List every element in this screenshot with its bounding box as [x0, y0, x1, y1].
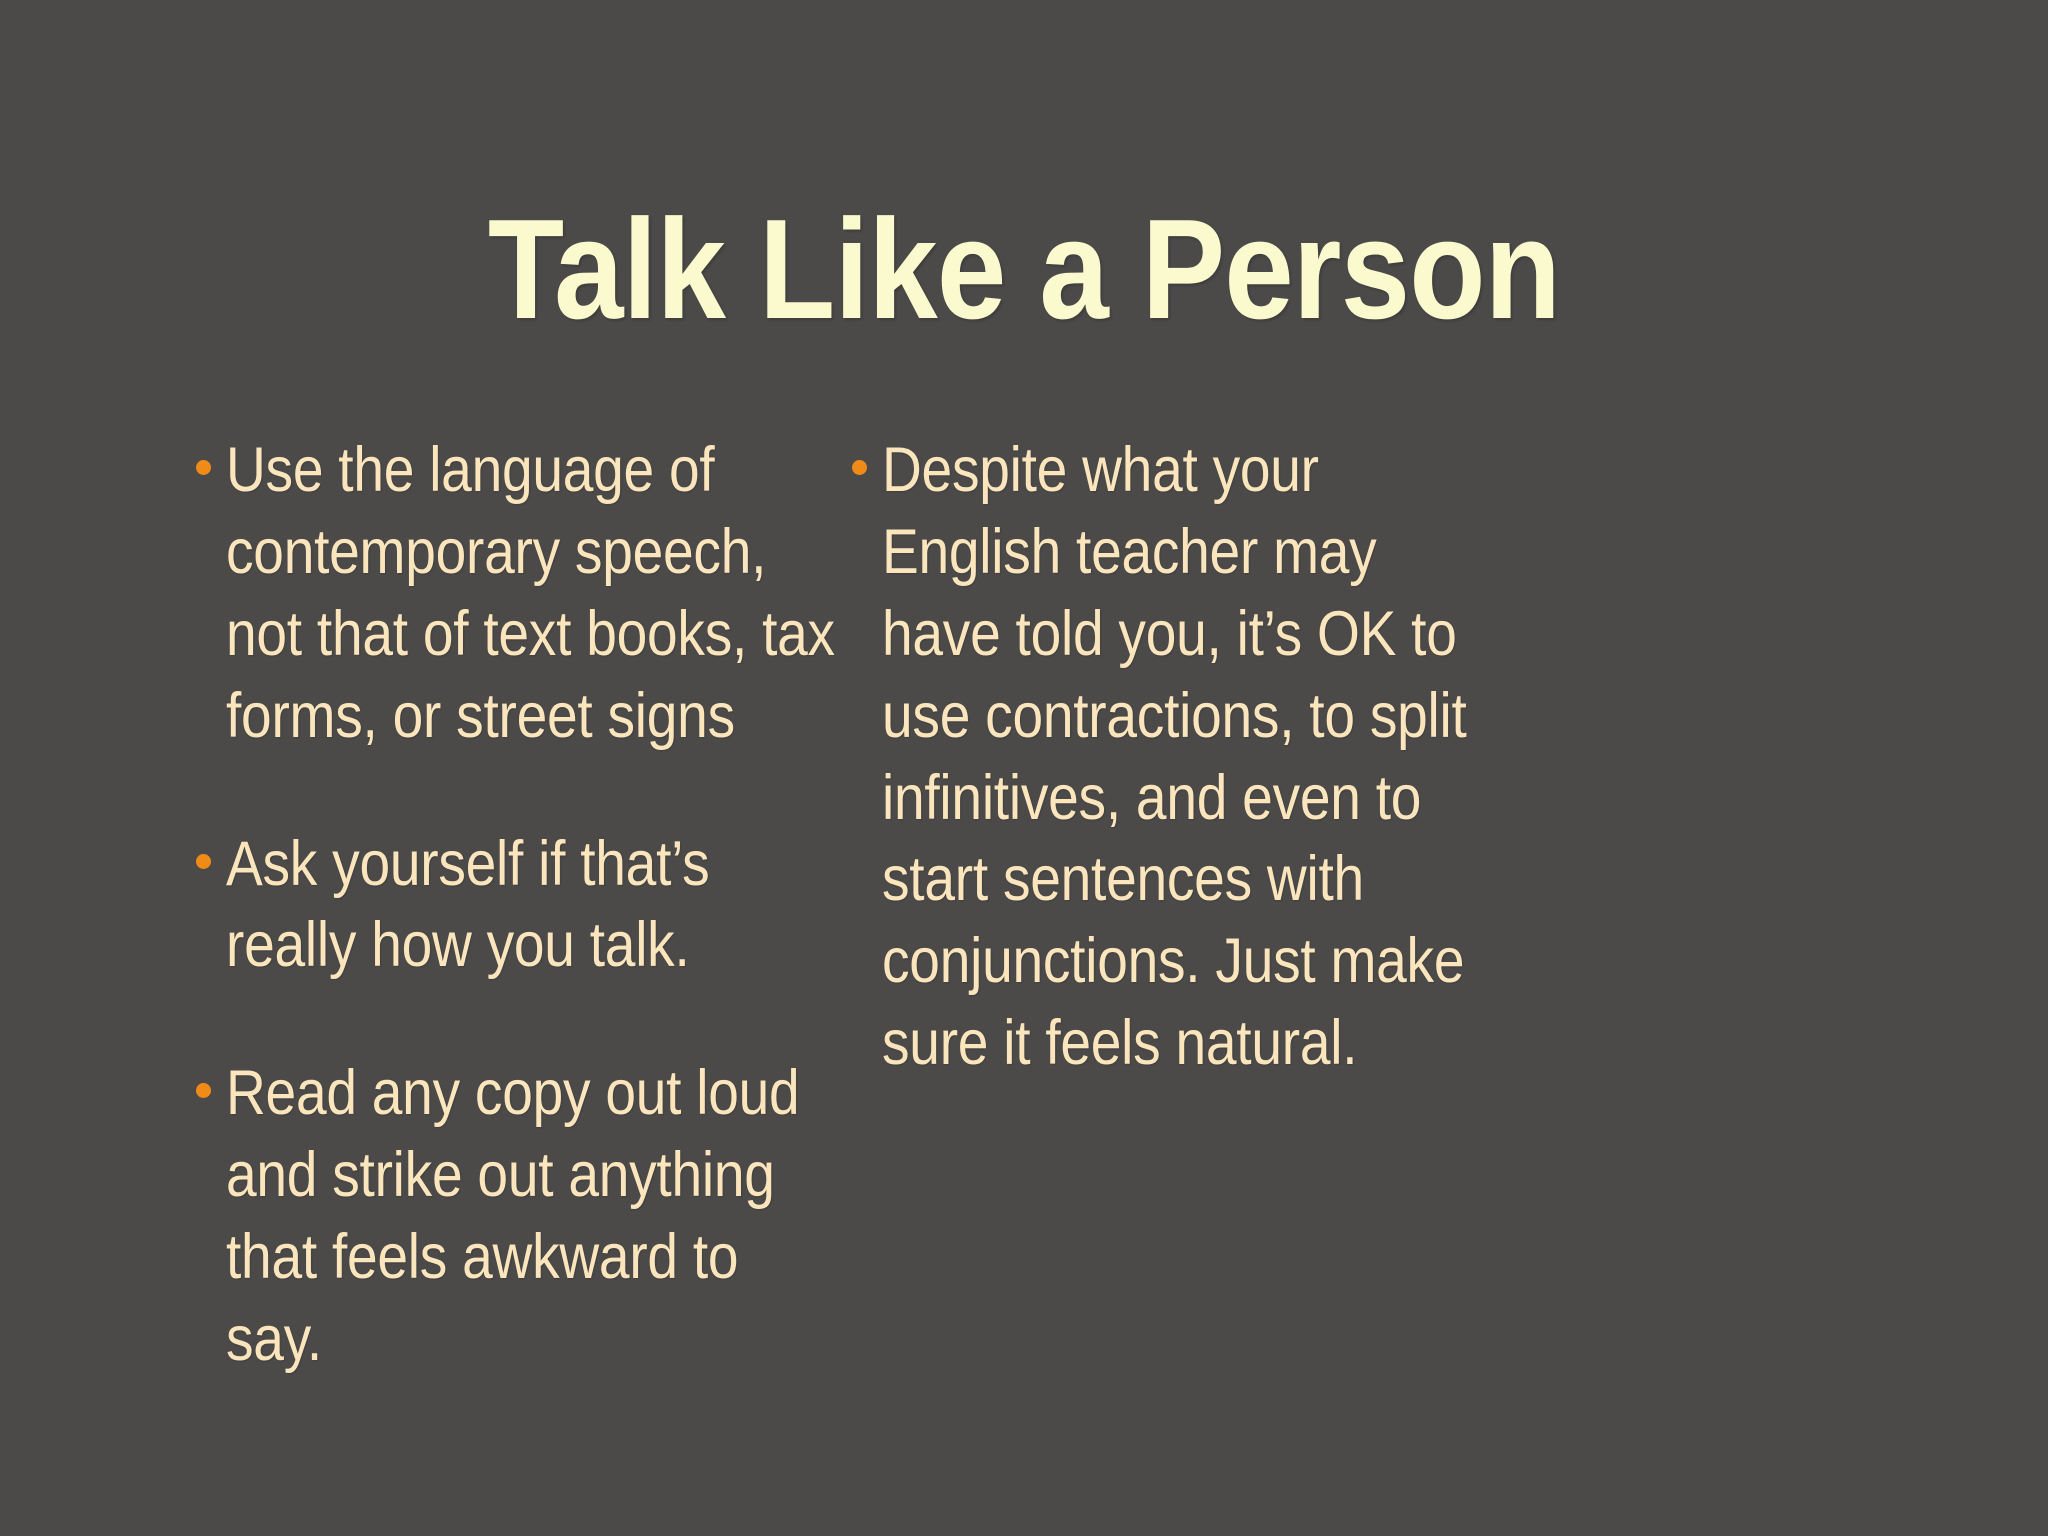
bullet-dot-icon	[196, 1083, 211, 1098]
slide-body: Use the language of contemporary speech,…	[0, 430, 2048, 1430]
list-item: Despite what your English teacher may ha…	[852, 430, 1592, 1085]
bullet-text: Read any copy out loud and strike out an…	[226, 1053, 847, 1381]
bullet-column-left: Use the language of contemporary speech,…	[196, 430, 936, 1381]
page-title: Talk Like a Person	[123, 199, 1925, 341]
bullet-dot-icon	[852, 460, 867, 475]
bullet-text: Despite what your English teacher may ha…	[882, 430, 1503, 1085]
bullet-dot-icon	[196, 854, 211, 869]
presentation-slide: Talk Like a Person Use the language of c…	[0, 0, 2048, 1536]
bullet-text: Ask yourself if that’s really how you ta…	[226, 824, 847, 988]
list-item: Ask yourself if that’s really how you ta…	[196, 824, 936, 988]
bullet-dot-icon	[196, 460, 211, 475]
bullet-text: Use the language of contemporary speech,…	[226, 430, 847, 758]
list-item: Read any copy out loud and strike out an…	[196, 1053, 936, 1381]
list-item: Use the language of contemporary speech,…	[196, 430, 936, 758]
bullet-column-right: Despite what your English teacher may ha…	[852, 430, 1592, 1085]
